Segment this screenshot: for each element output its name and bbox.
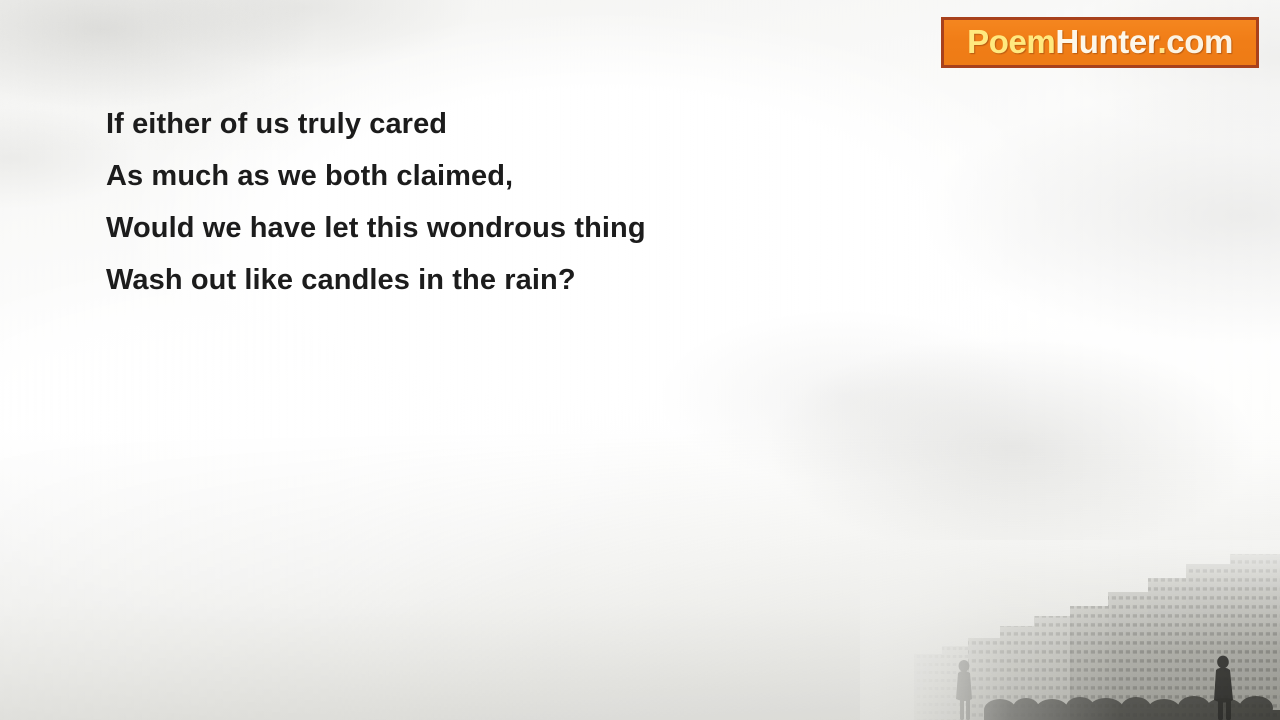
logo-word-com: com	[1166, 23, 1233, 60]
poem-text-block: If either of us truly cared As much as w…	[106, 98, 866, 306]
poemhunter-logo-text: PoemHunter.com	[967, 25, 1233, 58]
poem-line-1: If either of us truly cared	[106, 98, 866, 150]
logo-word-hunter: Hunter	[1055, 23, 1157, 60]
poem-line-3: Would we have let this wondrous thing	[106, 202, 866, 254]
poem-line-2: As much as we both claimed,	[106, 150, 866, 202]
skyline-drawing	[880, 550, 1280, 720]
poem-line-4: Wash out like candles in the rain?	[106, 254, 866, 306]
logo-dot: .	[1157, 23, 1166, 60]
city-skyline-image	[880, 550, 1280, 720]
poem-card-canvas: If either of us truly cared As much as w…	[0, 0, 1280, 720]
poemhunter-logo[interactable]: PoemHunter.com	[941, 17, 1259, 68]
logo-word-poem: Poem	[967, 23, 1055, 60]
